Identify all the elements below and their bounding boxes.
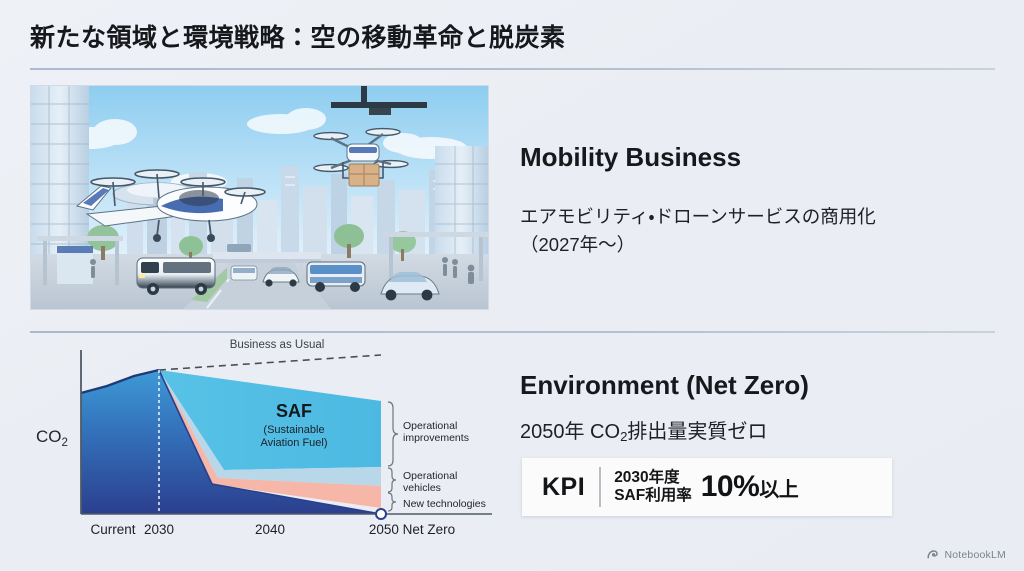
- bracket-operational-improvements-icon: [388, 402, 398, 466]
- chart-ylabel: CO2: [36, 427, 68, 449]
- chart-annotation-saf-title: SAF: [276, 401, 312, 421]
- chart-xtick-2030: 2030: [144, 522, 174, 537]
- environment-net-zero-body: 2050年 CO2排出量実質ゼロ: [520, 417, 767, 447]
- bracket-new-technologies-icon: [388, 493, 396, 511]
- chart-canvas: CO2 Business as Usual SAF (Sustainable A…: [22, 338, 502, 553]
- kpi-value: 10%以上: [692, 470, 799, 504]
- chart-bracket-label-operational-improvements-line2: improvements: [403, 432, 469, 444]
- chart-xtick-2050-net-zero: 2050 Net Zero: [369, 522, 455, 537]
- notebooklm-icon: [927, 549, 939, 561]
- co2-reduction-chart: CO2 Business as Usual SAF (Sustainable A…: [22, 338, 502, 553]
- divider-top: [30, 68, 995, 70]
- chart-xtick-2040: 2040: [255, 522, 285, 537]
- page-title: 新たな領域と環境戦略：空の移動革命と脱炭素: [30, 18, 566, 54]
- foreground-building-left: [31, 86, 89, 254]
- kpi-value-number: 10%: [701, 470, 760, 503]
- chart-line-business-as-usual: [159, 355, 381, 370]
- notebooklm-label: NotebookLM: [944, 549, 1006, 561]
- chart-xtick-current: Current: [90, 522, 135, 537]
- chart-annotation-saf-sub-line1: (Sustainable: [263, 424, 324, 436]
- bracket-operational-vehicles-icon: [388, 468, 396, 492]
- chart-bracket-label-operational-vehicles-line2: vehicles: [403, 482, 441, 494]
- divider-middle: [30, 331, 995, 333]
- kpi-box: KPI 2030年度 SAF利用率 10%以上: [522, 458, 892, 516]
- kpi-value-suffix: 以上: [759, 479, 798, 501]
- illustration-canvas: [31, 86, 488, 309]
- kpi-description: 2030年度 SAF利用率: [601, 469, 692, 506]
- notebooklm-watermark: NotebookLM: [927, 549, 1006, 561]
- urban-air-mobility-illustration: [30, 85, 489, 310]
- chart-bracket-label-operational-vehicles-line1: Operational: [403, 470, 457, 482]
- chart-bracket-label-operational-improvements-line1: Operational: [403, 420, 457, 432]
- environment-net-zero-heading: Environment (Net Zero): [520, 370, 809, 401]
- net-zero-marker: [376, 509, 386, 519]
- chart-annotation-business-as-usual: Business as Usual: [230, 339, 325, 351]
- mobility-business-heading: Mobility Business: [520, 142, 741, 173]
- mobility-business-body: エアモビリティ・ドローンサービスの商用化 （2027年〜）: [520, 203, 876, 259]
- chart-bracket-label-new-technologies: New technologies: [403, 498, 486, 510]
- chart-annotation-saf-sub-line2: Aviation Fuel): [260, 437, 327, 449]
- env-body-part2: 排出量実質ゼロ: [627, 421, 767, 443]
- distant-bus: [231, 266, 257, 280]
- kpi-label: KPI: [522, 473, 599, 502]
- env-body-part1: 2050年 CO: [520, 421, 620, 443]
